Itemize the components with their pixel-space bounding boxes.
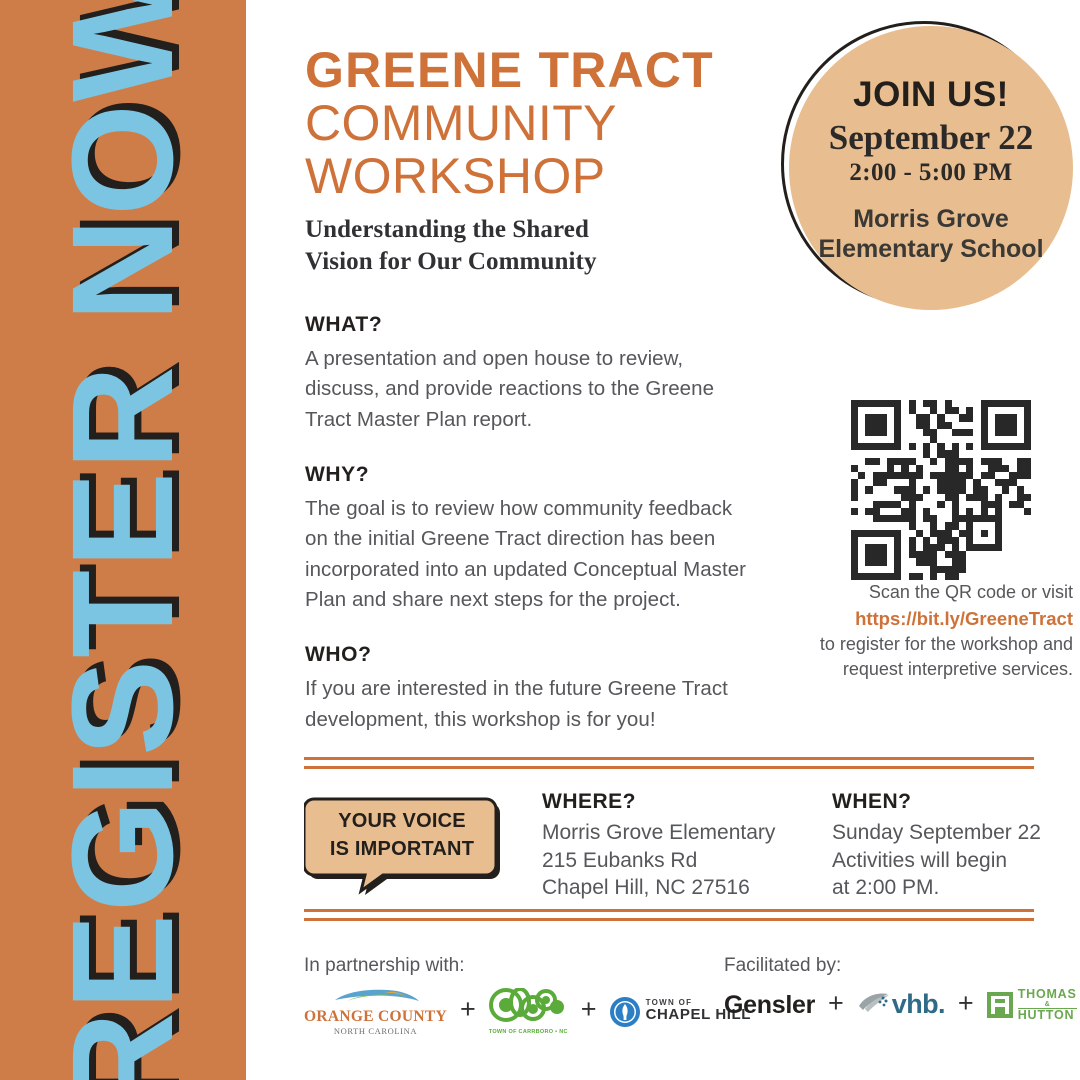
qr-module — [851, 501, 858, 508]
qr-module — [916, 465, 923, 472]
qr-module — [894, 472, 901, 479]
qr-module — [973, 472, 980, 479]
qr-module — [916, 494, 923, 501]
qr-module — [851, 544, 858, 551]
qa-block-what: WHAT? A presentation and open house to r… — [305, 313, 755, 435]
qr-module — [894, 551, 901, 558]
qr-module — [858, 429, 865, 436]
qr-module — [909, 551, 916, 558]
qr-module — [851, 508, 858, 515]
qr-module — [988, 414, 995, 421]
qr-module — [995, 551, 1002, 558]
qr-module — [981, 458, 988, 465]
qr-module — [1024, 501, 1031, 508]
qr-module — [1009, 400, 1016, 407]
qr-module — [952, 422, 959, 429]
qr-module — [1017, 479, 1024, 486]
qr-module — [851, 443, 858, 450]
qr-code-icon[interactable] — [851, 400, 1031, 580]
qr-module — [995, 508, 1002, 515]
qr-module — [887, 544, 894, 551]
qr-module — [1024, 566, 1031, 573]
qr-module — [937, 422, 944, 429]
qr-module — [1017, 436, 1024, 443]
qr-module — [981, 558, 988, 565]
qr-module — [894, 400, 901, 407]
qr-module — [1009, 508, 1016, 515]
qr-module — [952, 508, 959, 515]
qr-module — [923, 450, 930, 457]
qa-block-who: WHO? If you are interested in the future… — [305, 643, 755, 735]
qr-module — [894, 465, 901, 472]
qr-module — [1024, 429, 1031, 436]
qr-module — [909, 458, 916, 465]
qr-module — [937, 486, 944, 493]
qa-question-who: WHO? — [305, 643, 755, 667]
qr-module — [981, 472, 988, 479]
qr-module — [959, 544, 966, 551]
qr-module — [923, 414, 930, 421]
qr-module — [937, 400, 944, 407]
facilitators-group: Facilitated by: Gensler + vhb — [724, 955, 1077, 1022]
qr-module — [930, 537, 937, 544]
qr-module — [973, 443, 980, 450]
qr-module — [887, 429, 894, 436]
qr-module — [865, 465, 872, 472]
qr-module — [945, 443, 952, 450]
footer: In partnership with: ORANGE COUNTY NORTH… — [304, 955, 1044, 1055]
partnership-label: In partnership with: — [304, 955, 751, 977]
qr-module — [873, 414, 880, 421]
qr-module — [865, 400, 872, 407]
qr-module — [909, 443, 916, 450]
carrboro-circles-icon — [489, 988, 567, 1022]
qr-module — [858, 558, 865, 565]
qr-module — [851, 429, 858, 436]
qr-module — [858, 537, 865, 544]
qr-module — [995, 479, 1002, 486]
qr-module — [973, 486, 980, 493]
hutton-label: HUTTON — [1018, 1009, 1077, 1022]
qr-module — [952, 522, 959, 529]
qr-module — [930, 400, 937, 407]
qr-module — [901, 486, 908, 493]
qr-module — [981, 508, 988, 515]
qr-module — [1017, 544, 1024, 551]
qr-module — [916, 544, 923, 551]
when-column: WHEN? Sunday September 22 Activities wil… — [832, 790, 1062, 902]
qr-module — [1017, 429, 1024, 436]
qr-module — [916, 414, 923, 421]
qr-module — [966, 422, 973, 429]
qr-module — [973, 573, 980, 580]
qr-module — [959, 458, 966, 465]
qr-module — [851, 479, 858, 486]
qr-module — [930, 494, 937, 501]
qr-module — [937, 551, 944, 558]
qr-module — [909, 465, 916, 472]
qr-module — [988, 544, 995, 551]
qr-module — [887, 515, 894, 522]
qr-module — [916, 501, 923, 508]
qr-module — [966, 530, 973, 537]
qr-module — [966, 501, 973, 508]
thomas-label: THOMAS — [1018, 988, 1077, 1001]
qr-module — [988, 443, 995, 450]
qr-module — [1024, 472, 1031, 479]
qr-module — [901, 537, 908, 544]
qr-module — [1024, 414, 1031, 421]
qr-module — [901, 472, 908, 479]
qr-module — [1017, 422, 1024, 429]
qr-module — [887, 566, 894, 573]
qr-module — [959, 443, 966, 450]
qr-module — [901, 515, 908, 522]
qr-module — [880, 407, 887, 414]
divider-top — [304, 757, 1034, 769]
qr-module — [858, 522, 865, 529]
qr-module — [894, 508, 901, 515]
qr-module — [1009, 494, 1016, 501]
qr-module — [1017, 501, 1024, 508]
plus-separator: + — [828, 990, 844, 1021]
qr-module — [858, 551, 865, 558]
qr-module — [952, 515, 959, 522]
qr-module — [952, 429, 959, 436]
qr-module — [959, 566, 966, 573]
qr-module — [1002, 414, 1009, 421]
qr-module — [916, 566, 923, 573]
qr-module — [995, 522, 1002, 529]
qr-module — [901, 508, 908, 515]
qr-module — [909, 566, 916, 573]
qr-module — [966, 573, 973, 580]
qr-module — [901, 566, 908, 573]
qr-module — [894, 436, 901, 443]
qr-module — [930, 508, 937, 515]
qr-module — [952, 494, 959, 501]
qr-module — [923, 508, 930, 515]
qr-module — [851, 436, 858, 443]
qr-module — [887, 551, 894, 558]
qr-module — [916, 522, 923, 529]
qr-module — [887, 436, 894, 443]
qr-module — [952, 450, 959, 457]
qr-module — [894, 573, 901, 580]
subtitle-block: Understanding the Shared Vision for Our … — [305, 214, 775, 278]
qr-module — [930, 551, 937, 558]
where-heading: WHERE? — [542, 790, 792, 814]
qr-module — [894, 479, 901, 486]
qr-module — [909, 436, 916, 443]
qr-module — [858, 422, 865, 429]
registration-url[interactable]: https://bit.ly/GreeneTract — [773, 606, 1073, 632]
qr-module — [1024, 573, 1031, 580]
qr-module — [858, 443, 865, 450]
qr-module — [937, 429, 944, 436]
qr-module — [966, 486, 973, 493]
qr-module — [865, 429, 872, 436]
qr-module — [880, 414, 887, 421]
qr-module — [945, 537, 952, 544]
headline-line-3: WORKSHOP — [305, 150, 775, 203]
qr-module — [1024, 422, 1031, 429]
qr-module — [894, 486, 901, 493]
qr-module — [887, 573, 894, 580]
qr-module — [966, 414, 973, 421]
qr-module — [851, 400, 858, 407]
qr-module — [1002, 436, 1009, 443]
your-voice-line-2: IS IMPORTANT — [304, 835, 500, 863]
qr-module — [952, 407, 959, 414]
qr-module — [945, 465, 952, 472]
qr-module — [916, 422, 923, 429]
qr-module — [851, 551, 858, 558]
scan-instructions: Scan the QR code or visit https://bit.ly… — [773, 580, 1073, 683]
qr-module — [880, 436, 887, 443]
qr-module — [988, 400, 995, 407]
qr-module — [858, 573, 865, 580]
qr-module — [901, 501, 908, 508]
qr-module — [981, 486, 988, 493]
qr-module — [930, 573, 937, 580]
when-line-3: at 2:00 PM. — [832, 874, 1062, 902]
qr-module — [952, 436, 959, 443]
qr-module — [930, 522, 937, 529]
qr-module — [959, 400, 966, 407]
qr-module — [923, 465, 930, 472]
qr-module — [916, 472, 923, 479]
qr-module — [851, 414, 858, 421]
badge-time: 2:00 - 5:00 PM — [849, 159, 1012, 187]
qr-module — [858, 479, 865, 486]
qr-module — [901, 544, 908, 551]
qr-module — [865, 501, 872, 508]
qr-module — [865, 551, 872, 558]
qr-module — [916, 508, 923, 515]
qr-module — [981, 443, 988, 450]
qr-module — [1002, 530, 1009, 537]
qr-module — [995, 472, 1002, 479]
qr-module — [966, 458, 973, 465]
qr-module — [981, 537, 988, 544]
qr-module — [981, 422, 988, 429]
qr-module — [930, 479, 937, 486]
qr-module — [1017, 566, 1024, 573]
qr-module — [959, 551, 966, 558]
when-line-2: Activities will begin — [832, 847, 1062, 875]
vhb-wordmark: vhb. — [892, 992, 945, 1018]
qr-module — [945, 414, 952, 421]
qr-module — [966, 472, 973, 479]
qr-module — [973, 465, 980, 472]
partners-group: In partnership with: ORANGE COUNTY NORTH… — [304, 955, 751, 1035]
qr-module — [945, 472, 952, 479]
qr-module — [995, 501, 1002, 508]
qr-module — [945, 566, 952, 573]
gensler-logo: Gensler — [724, 991, 815, 1020]
qr-module — [851, 472, 858, 479]
qr-module — [1009, 429, 1016, 436]
qr-module — [959, 558, 966, 565]
qr-module — [1009, 443, 1016, 450]
your-voice-speech-bubble: YOUR VOICE IS IMPORTANT — [304, 787, 504, 895]
qr-module — [887, 479, 894, 486]
qr-module — [1002, 537, 1009, 544]
qr-module — [1009, 558, 1016, 565]
qr-module — [1002, 450, 1009, 457]
qr-module — [865, 544, 872, 551]
qr-module — [1017, 537, 1024, 544]
qr-module — [851, 465, 858, 472]
qr-module — [952, 479, 959, 486]
qr-module — [1024, 551, 1031, 558]
qr-module — [1002, 551, 1009, 558]
qr-module — [966, 522, 973, 529]
qr-module — [865, 436, 872, 443]
qr-module — [973, 422, 980, 429]
qr-module — [923, 429, 930, 436]
qr-module — [981, 465, 988, 472]
qr-module — [858, 494, 865, 501]
qr-module — [887, 407, 894, 414]
qr-module — [865, 537, 872, 544]
qr-module — [1017, 450, 1024, 457]
qr-module — [909, 558, 916, 565]
qr-module — [995, 573, 1002, 580]
qr-module — [909, 494, 916, 501]
qr-module — [1024, 537, 1031, 544]
plus-separator: + — [958, 990, 974, 1021]
qr-module — [873, 508, 880, 515]
qr-module — [988, 465, 995, 472]
qr-module — [937, 544, 944, 551]
qr-module — [865, 530, 872, 537]
qr-module — [887, 400, 894, 407]
qr-module — [923, 422, 930, 429]
qr-module — [1002, 400, 1009, 407]
qr-module — [901, 407, 908, 414]
qr-module — [1017, 530, 1024, 537]
qr-module — [937, 458, 944, 465]
qr-module — [909, 501, 916, 508]
qr-module — [995, 486, 1002, 493]
qr-module — [916, 515, 923, 522]
qr-module — [1024, 508, 1031, 515]
qr-module — [995, 566, 1002, 573]
qr-module — [937, 558, 944, 565]
qr-module — [1017, 443, 1024, 450]
qr-module — [1024, 458, 1031, 465]
qr-module — [966, 508, 973, 515]
event-details-row: YOUR VOICE IS IMPORTANT WHERE? Morris Gr… — [304, 787, 1044, 897]
qr-module — [880, 515, 887, 522]
qr-module — [901, 436, 908, 443]
qr-module — [880, 558, 887, 565]
qr-module — [923, 436, 930, 443]
carrboro-logo: TOWN OF CARRBORO • NC — [489, 988, 568, 1035]
qr-module — [865, 558, 872, 565]
partner-logo-row: ORANGE COUNTY NORTH CAROLINA + — [304, 988, 751, 1035]
qr-module — [865, 443, 872, 450]
thomas-hutton-text: THOMAS & HUTTON — [1018, 988, 1077, 1022]
qa-section: WHAT? A presentation and open house to r… — [305, 313, 755, 735]
badge-date: September 22 — [829, 119, 1033, 158]
qr-module — [995, 436, 1002, 443]
qr-module — [1017, 407, 1024, 414]
qr-module — [873, 573, 880, 580]
qr-module — [988, 429, 995, 436]
qr-module — [1017, 508, 1024, 515]
qr-module — [923, 551, 930, 558]
qr-module — [1009, 436, 1016, 443]
qr-module — [1009, 450, 1016, 457]
qr-module — [959, 522, 966, 529]
qr-module — [923, 494, 930, 501]
qr-module — [865, 450, 872, 457]
qr-module — [894, 458, 901, 465]
qr-module — [873, 436, 880, 443]
badge-venue-line-1: Morris Grove — [818, 204, 1043, 234]
qr-module — [916, 429, 923, 436]
qr-module — [952, 537, 959, 544]
qr-module — [937, 573, 944, 580]
qr-module — [959, 501, 966, 508]
qr-module — [981, 400, 988, 407]
qr-module — [880, 508, 887, 515]
qr-module — [887, 450, 894, 457]
qr-module — [887, 458, 894, 465]
qr-module — [858, 472, 865, 479]
qr-module — [973, 537, 980, 544]
qr-module — [873, 522, 880, 529]
qr-module — [894, 501, 901, 508]
qr-module — [916, 458, 923, 465]
qr-module — [952, 551, 959, 558]
qr-module — [880, 573, 887, 580]
qr-module — [973, 501, 980, 508]
where-line-3: Chapel Hill, NC 27516 — [542, 874, 792, 902]
qr-module — [1017, 551, 1024, 558]
qr-module — [1002, 486, 1009, 493]
qr-module — [930, 530, 937, 537]
qr-module — [851, 407, 858, 414]
qr-module — [1002, 443, 1009, 450]
qr-module — [858, 400, 865, 407]
qr-module — [873, 544, 880, 551]
qr-module — [858, 458, 865, 465]
qr-module — [873, 530, 880, 537]
qr-module — [887, 472, 894, 479]
qr-module — [1002, 515, 1009, 522]
headline-line-1: GREENE TRACT — [305, 44, 775, 97]
qr-module — [988, 422, 995, 429]
qr-module — [894, 450, 901, 457]
qr-module — [988, 501, 995, 508]
facilitated-label: Facilitated by: — [724, 955, 1077, 977]
qr-module — [923, 544, 930, 551]
qr-module — [952, 465, 959, 472]
qr-module — [894, 515, 901, 522]
qr-module — [909, 400, 916, 407]
qr-module — [973, 400, 980, 407]
qr-module — [865, 486, 872, 493]
qr-module — [952, 544, 959, 551]
qr-module — [973, 494, 980, 501]
qr-module — [1017, 573, 1024, 580]
qr-module — [1009, 414, 1016, 421]
qr-module — [973, 407, 980, 414]
